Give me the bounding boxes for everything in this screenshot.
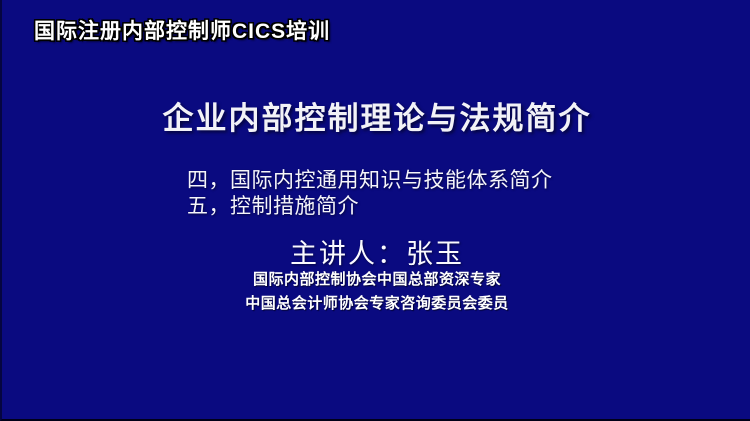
agenda-list: 四，国际内控通用知识与技能体系简介 五，控制措施简介 [187,168,707,220]
agenda-item-4: 四，国际内控通用知识与技能体系简介 [187,168,707,194]
slide-main-title: 企业内部控制理论与法规简介 [2,93,750,138]
credential-line-2: 中国总会计师协会专家咨询委员会委员 [2,292,750,316]
presenter-name: 主讲人：张玉 [2,232,750,271]
presentation-slide: 国际注册内部控制师CICS培训 企业内部控制理论与法规简介 四，国际内控通用知识… [0,0,750,421]
agenda-item-5: 五，控制措施简介 [187,194,707,220]
credential-line-1: 国际内部控制协会中国总部资深专家 [2,268,750,292]
presenter-credentials: 国际内部控制协会中国总部资深专家 中国总会计师协会专家咨询委员会委员 [2,268,750,316]
slide-header-band: 国际注册内部控制师CICS培训 [2,0,750,58]
course-brand-title: 国际注册内部控制师CICS培训 [34,15,330,45]
